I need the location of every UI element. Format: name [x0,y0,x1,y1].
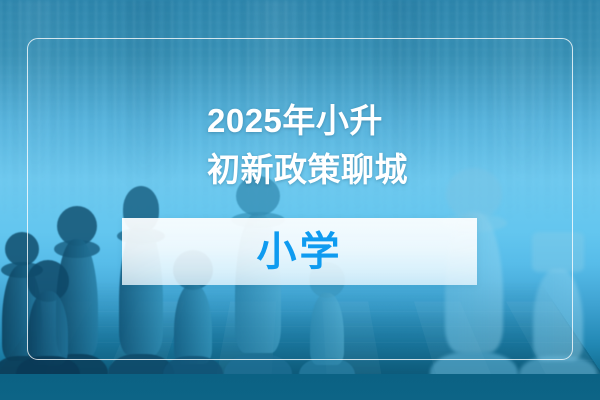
category-banner: 小学 [122,218,477,285]
chess-piece-body [28,291,68,365]
page-title: 2025年小升 初新政策聊城 [207,96,537,194]
bottom-strip [0,374,600,400]
chess-piece-pawn-front [18,260,78,382]
chess-piece-rook-right [520,232,596,382]
poster-canvas: 2025年小升 初新政策聊城 小学 [0,0,600,400]
chess-piece-head [532,232,584,272]
chess-piece-body [533,269,583,361]
chess-piece-body [174,284,212,364]
category-banner-label: 小学 [257,232,343,272]
chess-piece-body [310,293,344,365]
